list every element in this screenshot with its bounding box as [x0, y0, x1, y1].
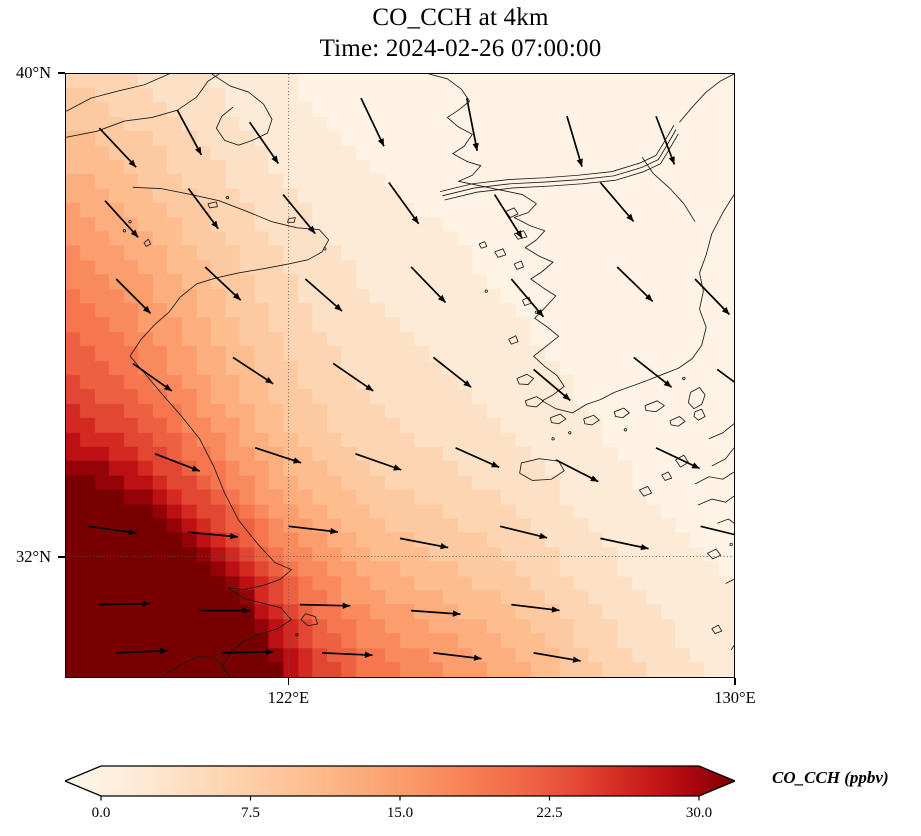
map-axes[interactable]	[65, 73, 735, 678]
x-tick-label: 122°E	[248, 688, 328, 708]
y-tick-label: 32°N	[0, 547, 51, 567]
colorbar-tick-label: 22.5	[536, 805, 562, 822]
colorbar-tick-label: 30.0	[686, 805, 712, 822]
y-tick-mark	[58, 556, 65, 558]
x-tick-label: 130°E	[695, 688, 775, 708]
colorbar-tick-label: 0.0	[92, 805, 111, 822]
figure-title-line1: CO_CCH at 4km	[0, 2, 921, 33]
colorbar-tick-label: 15.0	[387, 805, 413, 822]
y-tick-mark	[58, 72, 65, 74]
figure-title-line2: Time: 2024-02-26 07:00:00	[0, 33, 921, 64]
colorbar[interactable]	[65, 763, 735, 801]
x-tick-mark	[734, 678, 736, 685]
y-tick-label: 40°N	[0, 63, 51, 83]
figure-canvas: CO_CCH at 4km Time: 2024-02-26 07:00:00 …	[0, 0, 921, 836]
colorbar-gradient	[65, 766, 735, 796]
figure-title: CO_CCH at 4km Time: 2024-02-26 07:00:00	[0, 2, 921, 64]
x-tick-mark	[288, 678, 290, 685]
colorbar-tick-label: 7.5	[241, 805, 260, 822]
gridline-overlay	[66, 74, 734, 677]
colorbar-label: CO_CCH (ppbv)	[772, 768, 889, 788]
